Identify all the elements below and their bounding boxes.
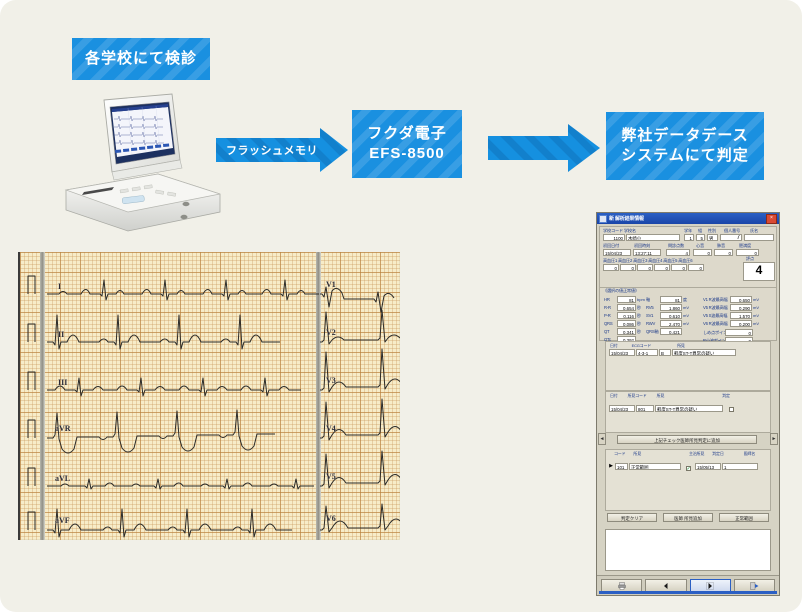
ecg-lead-label-III: III bbox=[58, 378, 67, 387]
measurement-row: 軸 81 度 bbox=[646, 296, 689, 303]
measure-value-v5-r[interactable]: 0.290 bbox=[730, 304, 752, 311]
field-score-value[interactable]: 4 bbox=[743, 262, 775, 281]
measure-value-v1-r[interactable]: 0.650 bbox=[730, 296, 752, 303]
field-bp-count[interactable]: 4 bbox=[666, 249, 690, 256]
measurement-row: V5 S波最高幅 1.570 mV bbox=[703, 312, 759, 319]
table-row[interactable]: 15/04/23 4-3-1 B 軽度ST-T異常の疑い bbox=[609, 349, 736, 356]
judgement-checkbox[interactable] bbox=[729, 407, 734, 412]
patient-header-panel: 学校コード 学校名 学年 組 性別 個人番号 氏名 1100 木崎小 1 5 男… bbox=[599, 226, 777, 288]
measurement-row: P-R 0.116 秒 bbox=[604, 312, 645, 319]
measure-unit-rwv: mV bbox=[683, 321, 689, 326]
cell-finding: 軽度ST-T異常の疑い bbox=[672, 349, 736, 356]
ecg-lead-label-I: I bbox=[58, 282, 61, 291]
field-class[interactable]: 5 bbox=[696, 234, 705, 241]
cell-judgement[interactable] bbox=[724, 399, 738, 417]
ecg-lead-label-aVF: aVF bbox=[55, 516, 70, 525]
window-icon bbox=[599, 215, 607, 223]
field-grade[interactable]: 1 bbox=[684, 234, 694, 241]
banner-database-system-text: 弊社データデース システムにて判定 bbox=[621, 126, 749, 167]
electrocardiograph-illustration bbox=[62, 86, 224, 236]
close-icon[interactable]: × bbox=[766, 214, 777, 224]
main-finding-checkbox[interactable]: ✓ bbox=[686, 466, 691, 471]
measure-label-point1: しめ点ポイント bbox=[703, 330, 724, 336]
table-row[interactable]: ▶ 101 正常範囲 ✓ 15/05/13 1 bbox=[608, 457, 758, 475]
cell-main-finding[interactable]: ✓ bbox=[682, 457, 694, 475]
field-lung[interactable]: 0 bbox=[714, 249, 733, 256]
measure-label-rv5: RV5 bbox=[646, 305, 659, 310]
arrow-flash-memory: フラッシュメモリ bbox=[216, 128, 348, 172]
findings-judgement-list[interactable]: 日付 所見コード 所見 判定 15/04/23 801 軽度ST-T異常の疑い bbox=[605, 391, 771, 433]
measure-unit-v5-r: mV bbox=[753, 305, 759, 310]
measurement-mid-column: 軸 81 度 RV5 1.860 mV SV1 0.610 mV RWV 2.4… bbox=[646, 296, 689, 335]
measure-unit-hr: bpm bbox=[637, 297, 645, 302]
measure-value-rv5[interactable]: 1.860 bbox=[660, 304, 682, 311]
cell-judgement-date: 15/05/13 bbox=[695, 463, 721, 470]
measure-value-qrs[interactable]: 0.086 bbox=[617, 320, 636, 327]
measure-label-v5-r: V5 R波最高幅 bbox=[703, 305, 729, 311]
banner-school-exam: 各学校にて検診 bbox=[72, 38, 210, 80]
field-bp-4[interactable]: 0 bbox=[654, 264, 670, 271]
cell-date: 15/04/23 bbox=[609, 349, 635, 356]
field-exam-time[interactable]: 13:27:11 bbox=[633, 249, 661, 256]
measurement-row: SV1 0.610 mV bbox=[646, 312, 689, 319]
ecg-lead-label-V3: V3 bbox=[326, 376, 336, 385]
measure-label-pr: P-R bbox=[604, 313, 616, 318]
action-button-row: 判定クリア 医師 所見追加 正常範囲 bbox=[607, 513, 769, 522]
fukuda-line2: EFS-8500 bbox=[367, 144, 446, 164]
measure-value-pr[interactable]: 0.116 bbox=[617, 312, 636, 319]
cell-doctor-name: 1 bbox=[722, 463, 758, 470]
measurement-row: RV5 1.860 mV bbox=[646, 304, 689, 311]
cell-date: 15/04/23 bbox=[609, 405, 635, 412]
measurement-panel: 《選択の値正常値》 HR 81 bpm R-R 0.654 秒 P-R 0.11… bbox=[599, 287, 777, 341]
field-bp-3[interactable]: 0 bbox=[637, 264, 653, 271]
scroll-left-button[interactable]: ◄ bbox=[598, 433, 606, 445]
measure-label-v5-s: V5 S波最高幅 bbox=[703, 313, 729, 319]
doctor-judgement-list[interactable]: コード 所見 主治所見 判定日 医師名 ▶ 101 正常範囲 ✓ 15/05/1… bbox=[605, 449, 771, 511]
ecg-lead-label-II: II bbox=[58, 330, 64, 339]
measure-unit-rr: 秒 bbox=[637, 305, 641, 311]
field-school-code[interactable]: 1100 bbox=[603, 234, 625, 241]
measurement-row: HR 81 bpm bbox=[604, 296, 645, 303]
measurement-row: R-R 0.654 秒 bbox=[604, 304, 645, 311]
measure-unit-v5-s: mV bbox=[753, 313, 759, 318]
field-id[interactable]: 7 bbox=[720, 234, 742, 241]
measure-label-v1-r: V1 R波最高幅 bbox=[703, 297, 729, 303]
measure-label-v6-r: V6 R波最高幅 bbox=[703, 321, 729, 327]
measure-unit-rv5: mV bbox=[683, 305, 689, 310]
db-line2: システムにて判定 bbox=[621, 146, 749, 166]
measurement-row: V5 R波最高幅 0.290 mV bbox=[703, 304, 759, 311]
add-doctor-finding-button[interactable]: 医師 所見追加 bbox=[663, 513, 713, 522]
field-school-name[interactable]: 木崎小 bbox=[626, 234, 680, 241]
measure-value-qrs-axis[interactable]: 0.421 bbox=[660, 328, 682, 335]
measure-unit-pr: 秒 bbox=[637, 313, 641, 319]
memo-textarea[interactable] bbox=[605, 529, 771, 571]
normal-range-button[interactable]: 正常範囲 bbox=[719, 513, 769, 522]
measurement-row: しめ点ポイント 0 bbox=[703, 329, 759, 336]
measure-label-hr: HR bbox=[604, 297, 616, 302]
ecg-lead-label-V2: V2 bbox=[326, 328, 336, 337]
measure-label-rr: R-R bbox=[604, 305, 616, 310]
measure-value-hr[interactable]: 81 bbox=[617, 296, 636, 303]
db-line1: 弊社データデース bbox=[621, 126, 749, 146]
ecg-machine-svg bbox=[62, 86, 224, 236]
cell-code: 4-3-1 bbox=[636, 349, 658, 356]
measure-unit-v6-r: mV bbox=[753, 321, 759, 326]
measurement-row: V1 R波最高幅 0.650 mV bbox=[703, 296, 759, 303]
field-bp-6[interactable]: 0 bbox=[688, 264, 704, 271]
measure-value-point1[interactable]: 0 bbox=[725, 329, 753, 336]
measure-label-sv1: SV1 bbox=[646, 313, 659, 318]
scroll-right-button[interactable]: ► bbox=[770, 433, 778, 445]
field-heart[interactable]: 0 bbox=[693, 249, 712, 256]
measurement-row: RWV 2.470 mV bbox=[646, 320, 689, 327]
measure-value-v6-r[interactable]: 0.200 bbox=[730, 320, 752, 327]
measure-label-qrs: QRS bbox=[604, 321, 616, 326]
window-title: 新 解析結果情報 bbox=[609, 215, 766, 222]
measure-label-qt: QT bbox=[604, 329, 616, 334]
arrow-to-database bbox=[488, 124, 600, 172]
measurement-group-title: 《選択の値正常値》 bbox=[603, 288, 639, 294]
measure-label-rwv: RWV bbox=[646, 321, 659, 326]
measure-label-qrs-axis: QRS軸 bbox=[646, 329, 659, 335]
field-sex[interactable]: 男 bbox=[707, 234, 718, 241]
measurement-right-column: V1 R波最高幅 0.650 mV V5 R波最高幅 0.290 mV V5 S… bbox=[703, 296, 759, 344]
cell-finding: 正常範囲 bbox=[629, 463, 681, 470]
measure-unit-qt: 秒 bbox=[637, 329, 641, 335]
measure-value-sv1[interactable]: 0.610 bbox=[660, 312, 682, 319]
ecg-lead-label-aVL: aVL bbox=[55, 474, 70, 483]
measure-unit-sv1: mV bbox=[683, 313, 689, 318]
arrow-flash-memory-label: フラッシュメモリ bbox=[226, 142, 318, 158]
analysis-result-window[interactable]: 新 解析結果情報 × 学校コード 学校名 学年 組 性別 個人番号 氏名 110… bbox=[596, 212, 780, 596]
cell-finding: 軽度ST-T異常の疑い bbox=[655, 405, 723, 412]
measure-value-rwv[interactable]: 2.470 bbox=[660, 320, 682, 327]
cell-code: 801 bbox=[636, 405, 654, 412]
measure-value-axis[interactable]: 81 bbox=[660, 296, 682, 303]
page-root: 各学校にて検診 bbox=[0, 0, 802, 612]
measurement-row: QT 0.341 秒 bbox=[604, 328, 645, 335]
measure-label-axis: 軸 bbox=[646, 297, 659, 303]
measurement-row: V6 R波最高幅 0.200 mV bbox=[703, 320, 759, 327]
measure-value-rr[interactable]: 0.654 bbox=[617, 304, 636, 311]
measure-unit-qrs: 秒 bbox=[637, 321, 641, 327]
add-checked-to-judgement-button[interactable]: 上記チェック医師所見判定に追加 bbox=[617, 435, 757, 444]
ecg-lead-label-V5: V5 bbox=[326, 472, 336, 481]
field-exam-date[interactable]: 15/04/23 bbox=[603, 249, 631, 256]
row-selector-icon[interactable]: ▶ bbox=[608, 463, 614, 469]
ecg-lead-label-V6: V6 bbox=[326, 514, 336, 523]
ecg-traces bbox=[20, 252, 400, 540]
measure-unit-axis: 度 bbox=[683, 297, 687, 303]
banner-database-system: 弊社データデース システムにて判定 bbox=[606, 112, 764, 180]
field-weight[interactable]: 0 bbox=[736, 249, 759, 256]
field-bp-1[interactable]: 0 bbox=[603, 264, 619, 271]
window-status-strip bbox=[599, 591, 777, 594]
table-row[interactable]: 15/04/23 801 軽度ST-T異常の疑い bbox=[609, 399, 738, 417]
clear-judgement-button[interactable]: 判定クリア bbox=[607, 513, 657, 522]
cell-code: 101 bbox=[615, 463, 628, 470]
window-titlebar: 新 解析結果情報 × bbox=[597, 213, 779, 224]
banner-fukuda-device-text: フクダ電子 EFS-8500 bbox=[367, 124, 446, 165]
measure-value-v5-s[interactable]: 1.570 bbox=[730, 312, 752, 319]
banner-fukuda-device: フクダ電子 EFS-8500 bbox=[352, 110, 462, 178]
ecg-lead-label-V4: V4 bbox=[326, 424, 336, 433]
ecg-lead-label-aVR: aVR bbox=[55, 424, 71, 433]
measurement-row: QRS軸 0.421 bbox=[646, 328, 689, 335]
ecg-findings-list[interactable]: 日付 ECGコード 所見 15/04/23 4-3-1 B 軽度ST-T異常の疑… bbox=[605, 341, 771, 391]
measure-value-qt[interactable]: 0.341 bbox=[617, 328, 636, 335]
measurement-left-column: HR 81 bpm R-R 0.654 秒 P-R 0.116 秒 QRS 0.… bbox=[604, 296, 645, 343]
field-bp-2[interactable]: 0 bbox=[620, 264, 636, 271]
field-bp-5[interactable]: 0 bbox=[671, 264, 687, 271]
ecg-printout: I II III aVR aVL aVF V1 V2 V3 V4 V5 V6 bbox=[18, 252, 400, 540]
ecg-lead-label-V1: V1 bbox=[326, 280, 336, 289]
cell-num: B bbox=[659, 349, 671, 356]
field-name[interactable] bbox=[744, 234, 774, 241]
measure-unit-v1-r: mV bbox=[753, 297, 759, 302]
measurement-row: QRS 0.086 秒 bbox=[604, 320, 645, 327]
banner-school-exam-label: 各学校にて検診 bbox=[85, 49, 197, 69]
fukuda-line1: フクダ電子 bbox=[367, 124, 446, 144]
